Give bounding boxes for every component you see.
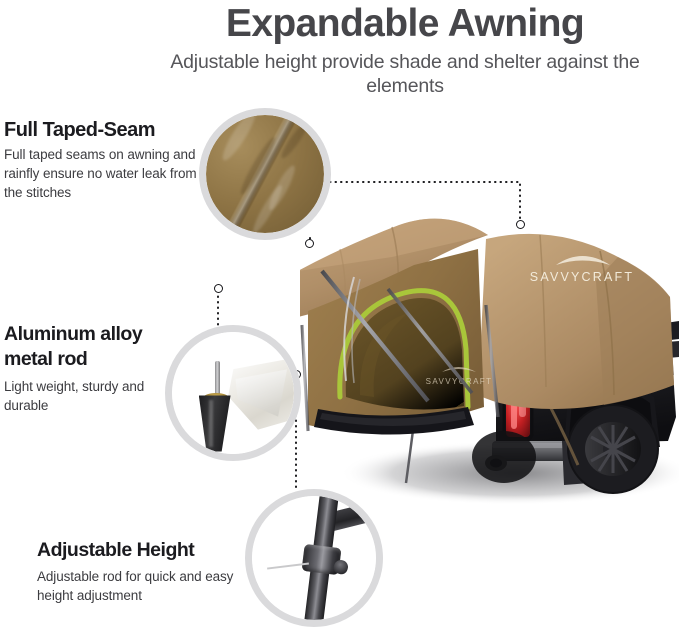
callout-body-aluminum-alloy-metal-rod: Light weight, sturdy and durable [4,377,189,415]
callout-heading-aluminum-alloy-metal-rod: Aluminum alloy metal rod [4,322,189,372]
marker-tent-ridge-right [516,220,525,229]
page-subtitle: Adjustable height provide shade and shel… [150,50,660,98]
infographic-canvas: Expandable Awning Adjustable height prov… [0,0,679,627]
callout-adjustable-height: Adjustable Height Adjustable rod for qui… [37,538,252,605]
pole-clamp-image [252,496,376,620]
rod-foot-image [172,332,294,454]
callout-body-adjustable-height: Adjustable rod for quick and easy height… [37,567,252,605]
marker-pole-upper [214,284,223,293]
product-photo: SAVVYCRAFT SAVVYCRAFT [300,205,679,535]
callout-full-taped-seam: Full Taped-Seam Full taped seams on awni… [4,118,204,202]
callout-heading-adjustable-height: Adjustable Height [37,538,252,563]
callout-aluminum-alloy-metal-rod: Aluminum alloy metal rod Light weight, s… [4,322,189,415]
inset-adjustable-height [245,489,383,627]
header: Expandable Awning Adjustable height prov… [150,0,660,98]
inset-full-taped-seam [199,108,331,240]
inset-aluminum-alloy-metal-rod [165,325,301,461]
rear-wheel [567,404,659,494]
callout-body-full-taped-seam: Full taped seams on awning and rainfly e… [4,145,204,202]
page-title: Expandable Awning [150,0,660,46]
taped-seam-fabric-image [206,115,324,233]
brand-text-primary: SAVVYCRAFT [530,270,634,284]
callout-heading-full-taped-seam: Full Taped-Seam [4,118,204,142]
marker-tent-ridge-left [305,239,314,248]
